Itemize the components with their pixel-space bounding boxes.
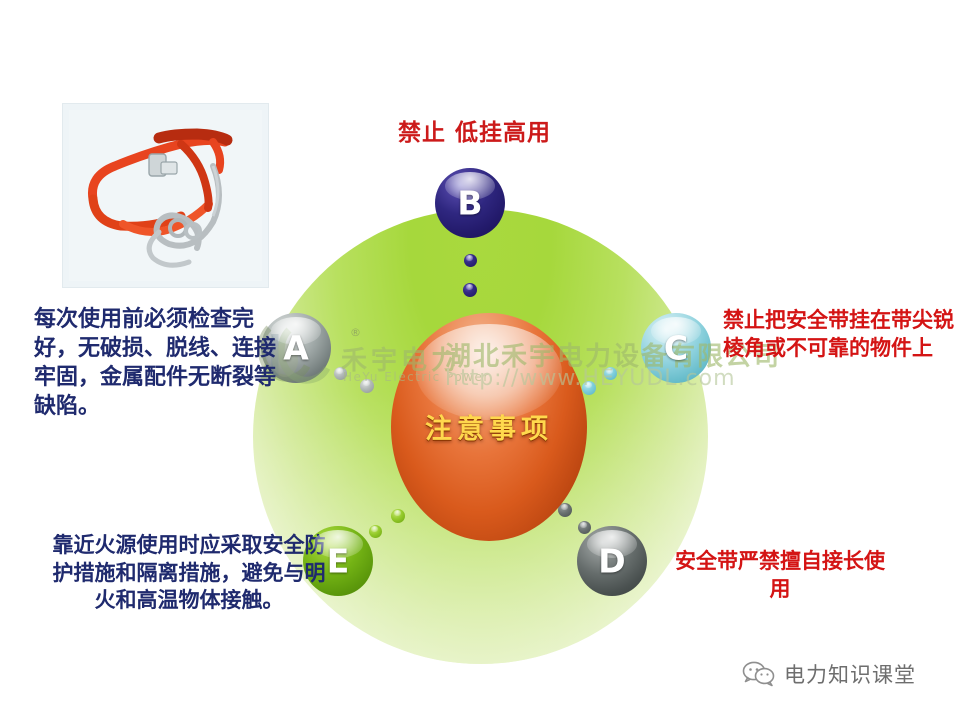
slide-canvas: 禁止 低挂高用 注意事项 A B C D E bbox=[0, 0, 960, 720]
node-d[interactable]: D bbox=[577, 526, 647, 596]
caption-left-bottom: 靠近火源使用时应采取安全防护措施和隔离措施，避免与明火和高温物体接触。 bbox=[44, 532, 334, 615]
connector-dot-b-outer bbox=[464, 254, 477, 267]
node-d-letter: D bbox=[577, 542, 647, 581]
footer-brand-text: 电力知识课堂 bbox=[784, 659, 916, 689]
center-topic-label: 注意事项 bbox=[391, 407, 587, 446]
node-e-letter: E bbox=[303, 542, 373, 581]
center-ball-gloss bbox=[416, 324, 561, 420]
caption-left-top: 每次使用前必须检查完好，无破损、脱线、连接牢固，金属配件无断裂等缺陷。 bbox=[34, 305, 284, 421]
connector-dot-d-outer bbox=[578, 521, 591, 534]
harness-illustration bbox=[63, 104, 268, 287]
connector-dot-a-outer bbox=[334, 367, 347, 380]
caption-right-bottom: 安全带严禁擅自接长使用 bbox=[665, 548, 895, 603]
node-b[interactable]: B bbox=[435, 168, 505, 238]
connector-dot-c-inner bbox=[582, 381, 596, 395]
headline-prohibition: 禁止 低挂高用 bbox=[398, 113, 551, 147]
wechat-icon bbox=[742, 660, 776, 688]
connector-dot-c-outer bbox=[604, 367, 617, 380]
node-c-letter: C bbox=[641, 329, 711, 368]
center-topic-ball: 注意事项 bbox=[391, 313, 587, 541]
node-b-letter: B bbox=[435, 184, 505, 223]
safety-belt-harness-photo bbox=[62, 103, 269, 288]
node-a-letter: A bbox=[261, 329, 331, 368]
node-c[interactable]: C bbox=[641, 313, 711, 383]
connector-dot-a-inner bbox=[360, 379, 374, 393]
connector-dot-b-inner bbox=[463, 283, 477, 297]
footer-brand: 电力知识课堂 bbox=[742, 655, 916, 693]
connector-dot-e-inner bbox=[391, 509, 405, 523]
caption-right-top: 禁止把安全带挂在带尖锐棱角或不可靠的物件上 bbox=[723, 307, 958, 362]
connector-dot-e-outer bbox=[369, 525, 382, 538]
